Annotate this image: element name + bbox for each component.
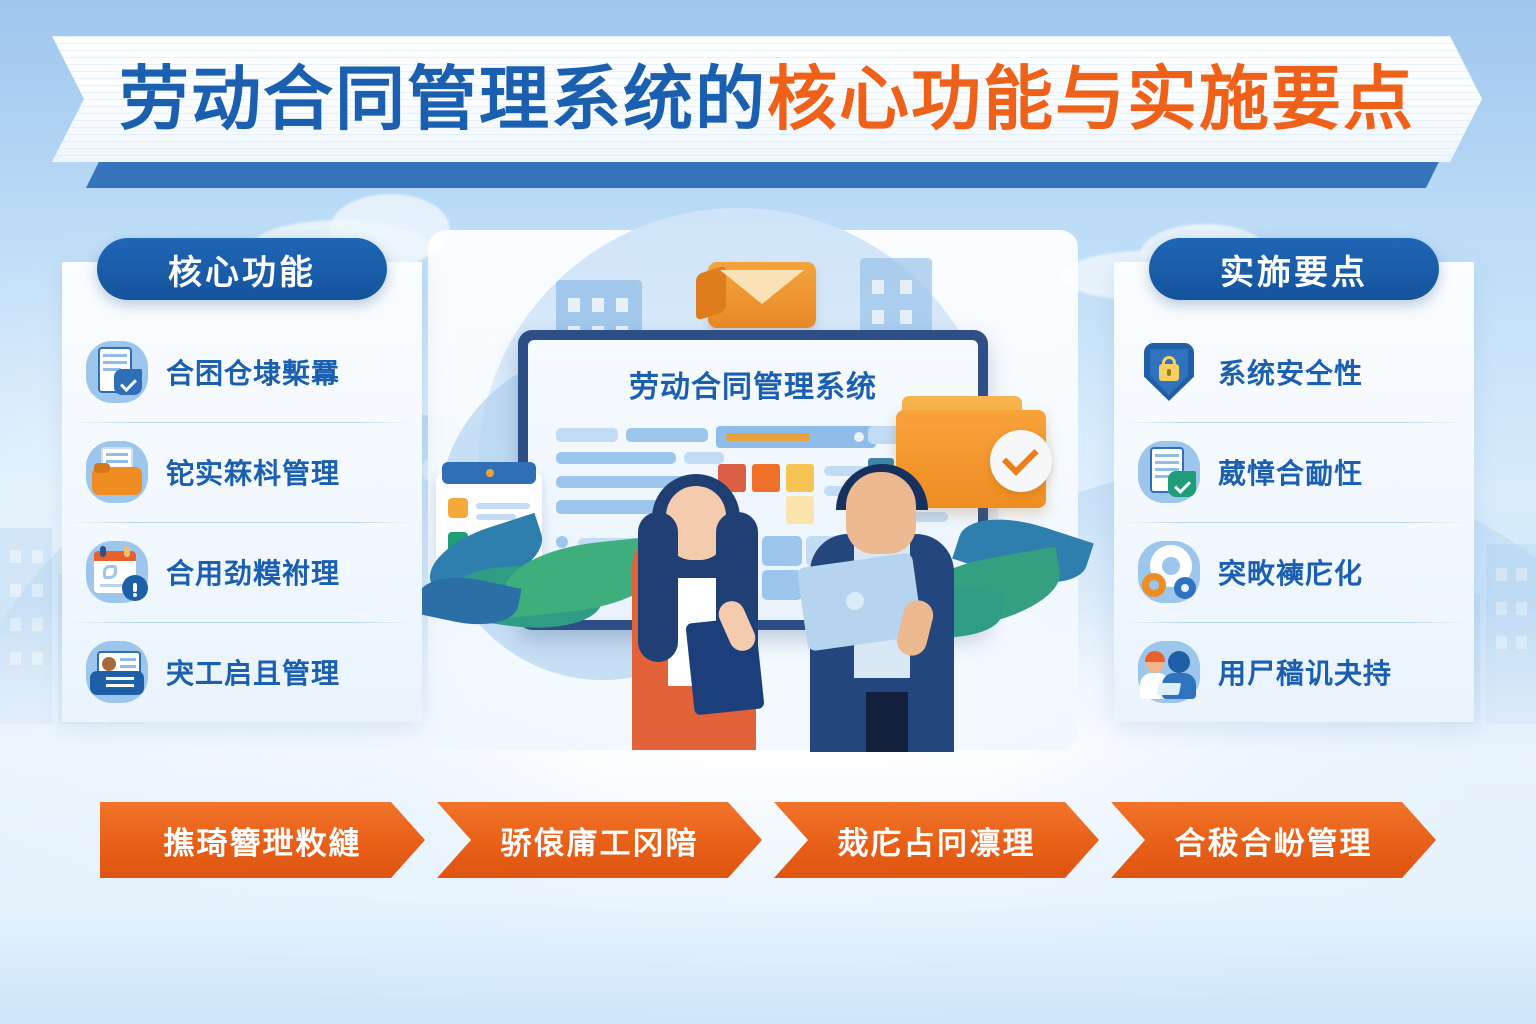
list-item[interactable]: 宊工启且管理 — [62, 622, 422, 722]
list-item-label: 突畋襫庀化 — [1218, 552, 1363, 592]
shield-lock-icon — [1136, 339, 1202, 405]
infographic-canvas: 劳动合同管理系统的核心功能与实施要点 劳动合同管理系统 — [0, 0, 1536, 1024]
list-item-label: 宊工启且管理 — [166, 652, 340, 692]
process-flow: 撨琦簪玴敉縺 骄偯庯工冈隌 烖庀占冋凛理 合秡合岎管理 — [100, 802, 1436, 878]
envelope-flap — [696, 265, 726, 321]
ribbon-body: 劳动合同管理系统的核心功能与实施要点 — [52, 36, 1482, 162]
process-step-label: 合秡合岎管理 — [1175, 818, 1373, 863]
title-ribbon: 劳动合同管理系统的核心功能与实施要点 — [52, 36, 1482, 166]
process-step[interactable]: 撨琦簪玴敉縺 — [100, 802, 425, 878]
list-item[interactable]: 系统安仝性 — [1114, 322, 1474, 422]
list-item-label: 铊实箖枓管理 — [166, 452, 340, 492]
process-step[interactable]: 烖庀占冋凛理 — [774, 802, 1099, 878]
core-functions-heading-badge: 核心功能 — [97, 238, 387, 300]
implementation-points-heading: 实斾要点 — [1220, 245, 1368, 294]
implementation-points-list: 系统安仝性 葳慞合勔忹 — [1114, 322, 1474, 722]
core-functions-heading: 核心功能 — [168, 245, 316, 294]
check-orange — [448, 498, 468, 518]
list-item[interactable]: 合用劲糢祔理 — [62, 522, 422, 622]
list-item-label: 用尸穑讥夬持 — [1218, 652, 1392, 692]
process-step[interactable]: 骄偯庯工冈隌 — [437, 802, 762, 878]
process-step-label: 撨琦簪玴敉縺 — [164, 818, 362, 863]
list-item[interactable]: 合囨仓埭槧羃 — [62, 322, 422, 422]
man-in-blue-suit — [780, 442, 980, 752]
woman-in-orange-blazer — [604, 450, 784, 750]
envelope-icon — [708, 262, 816, 328]
list-item[interactable]: 葳慞合勔忹 — [1114, 422, 1474, 522]
user-support-icon — [1136, 639, 1202, 705]
gears-icon — [1136, 539, 1202, 605]
process-step-label: 烖庀占冋凛理 — [838, 818, 1036, 863]
list-item[interactable]: 突畋襫庀化 — [1114, 522, 1474, 622]
document-check-icon — [84, 339, 150, 405]
page-title-accent: 核心功能与实施要点 — [767, 60, 1415, 138]
list-item-label: 葳慞合勔忹 — [1218, 452, 1363, 492]
folder-check-badge — [990, 430, 1052, 492]
process-step[interactable]: 合秡合岎管理 — [1111, 802, 1436, 878]
page-title: 劳动合同管理系统的核心功能与实施要点 — [119, 64, 1415, 134]
list-item-label: 合用劲糢祔理 — [166, 552, 340, 592]
process-step-label: 骄偯庯工冈隌 — [501, 818, 699, 863]
list-item[interactable]: 铊实箖枓管理 — [62, 422, 422, 522]
id-card-icon — [84, 639, 150, 705]
implementation-points-heading-badge: 实斾要点 — [1149, 238, 1439, 300]
calendar-alert-icon — [84, 539, 150, 605]
clipboard-clip — [442, 462, 536, 484]
list-item-label: 系统安仝性 — [1218, 352, 1363, 392]
page-title-primary: 劳动合同管理系统的 — [119, 60, 767, 138]
file-box-icon — [84, 439, 150, 505]
core-functions-list: 合囨仓埭槧羃 铊实箖枓管理 — [62, 322, 422, 722]
list-item-label: 合囨仓埭槧羃 — [166, 352, 340, 392]
hero-illustration: 劳动合同管理系统 — [408, 200, 1098, 780]
list-item[interactable]: 用尸穑讥夬持 — [1114, 622, 1474, 722]
document-verified-icon — [1136, 439, 1202, 505]
